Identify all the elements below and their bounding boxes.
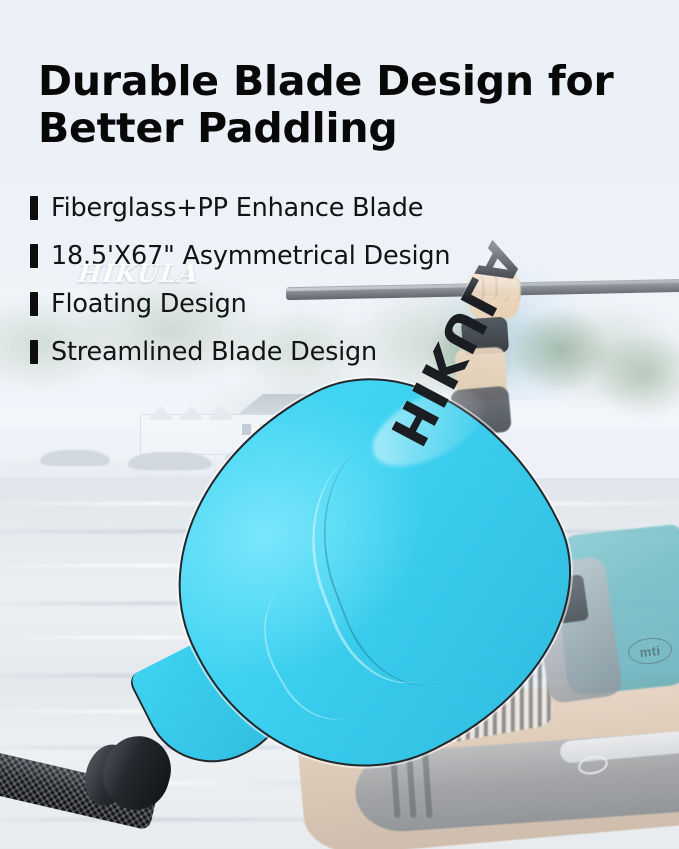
bullet-marker-icon <box>30 244 38 268</box>
bullet-marker-icon <box>30 292 38 316</box>
title-line-2: Better Paddling <box>38 104 398 152</box>
mti-logo-text: mti <box>627 636 673 666</box>
feature-label: Fiberglass+PP Enhance Blade <box>51 193 423 223</box>
moored-boat <box>40 450 110 466</box>
title-line-1: Durable Blade Design for <box>38 57 614 105</box>
list-item: Streamlined Blade Design <box>30 328 650 376</box>
brand-watermark: HIKULA <box>76 259 200 288</box>
marketing-text-overlay: Durable Blade Design for Better Paddling… <box>0 0 679 400</box>
bullet-marker-icon <box>30 196 38 220</box>
feature-label: Streamlined Blade Design <box>51 337 377 367</box>
feature-label: Floating Design <box>51 289 247 319</box>
page-title: Durable Blade Design for Better Paddling <box>38 58 648 152</box>
product-feature-image: mti HIKULA Dura <box>0 0 679 849</box>
bullet-marker-icon <box>30 340 38 364</box>
mti-brand-logo: mti <box>627 636 673 666</box>
paddle-blade-group <box>118 368 618 798</box>
list-item: Fiberglass+PP Enhance Blade <box>30 184 650 232</box>
